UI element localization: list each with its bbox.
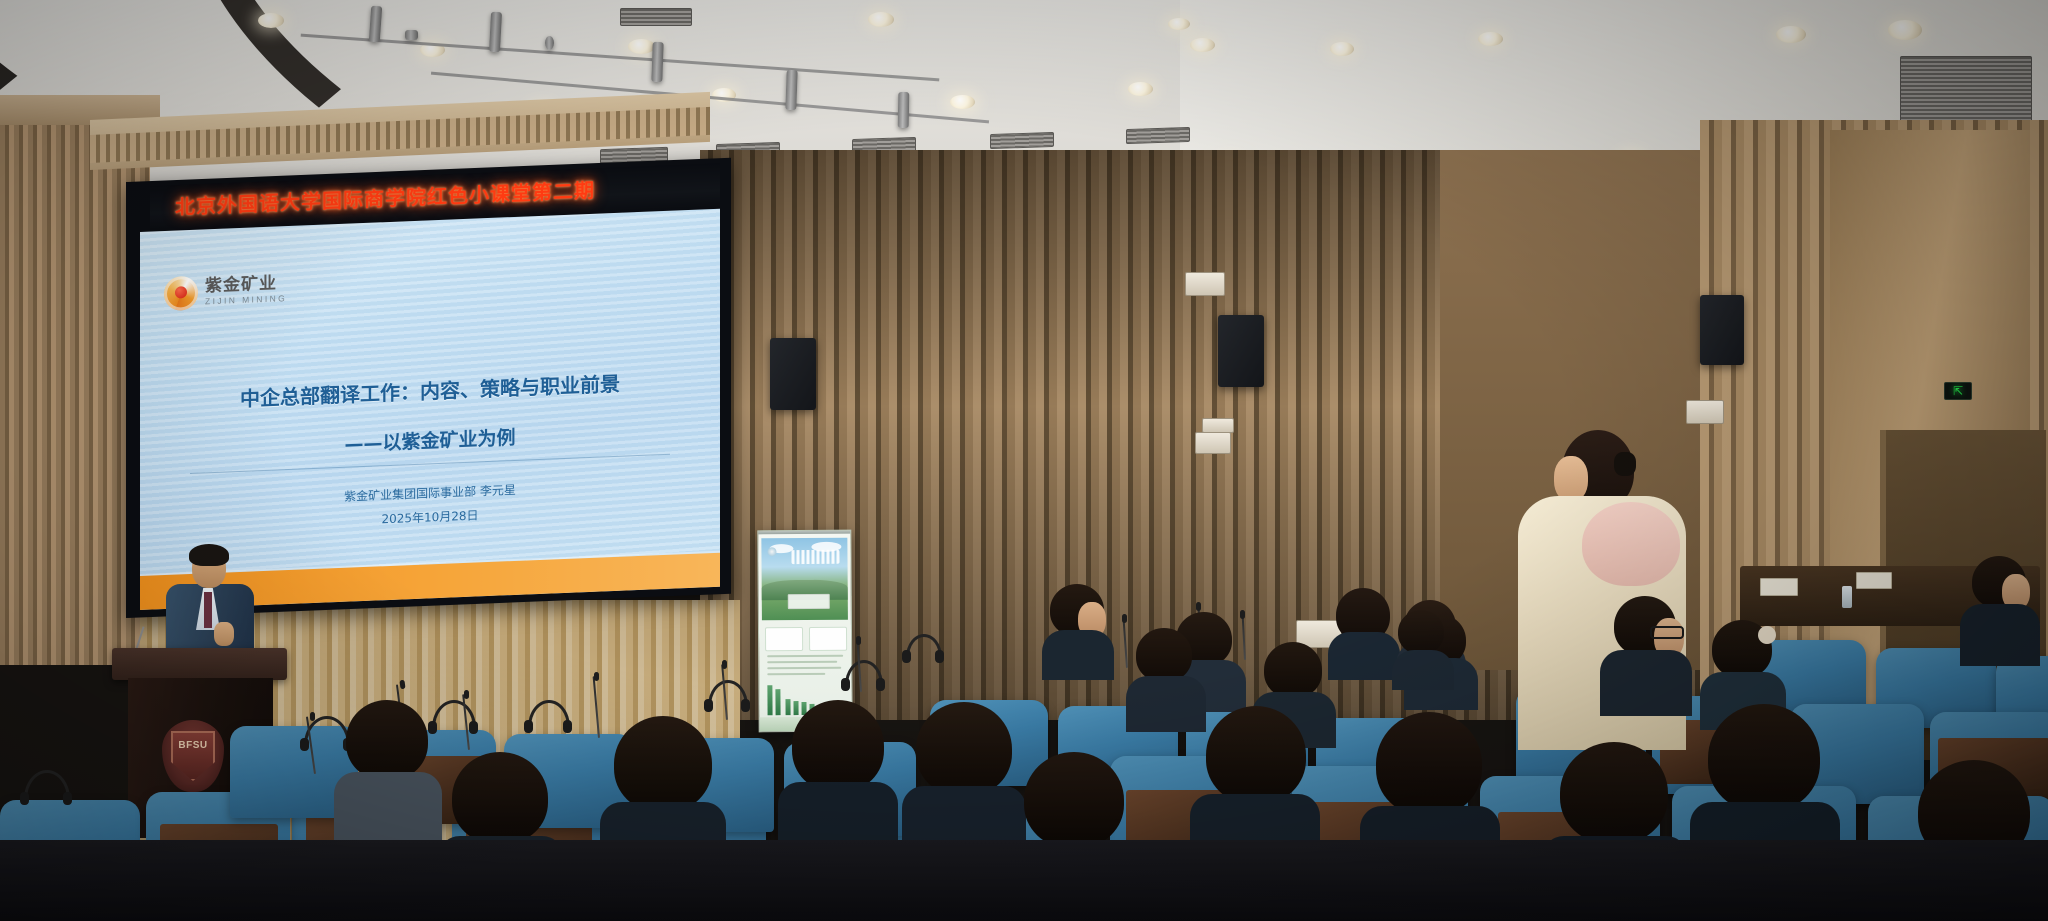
lectern-top bbox=[112, 648, 287, 680]
attendee-torso bbox=[1392, 650, 1454, 690]
ceiling-vent bbox=[620, 8, 692, 26]
emergency-exit-sign: ⇱ bbox=[1944, 382, 1972, 400]
attendee-hair bbox=[1376, 712, 1482, 816]
attendee-glasses bbox=[1650, 626, 1684, 639]
presenter-hair bbox=[189, 544, 229, 566]
ceiling-downlight bbox=[1190, 38, 1215, 52]
attendee-hair bbox=[1560, 742, 1668, 844]
rollup-textline bbox=[767, 673, 825, 675]
attendee-hair bbox=[346, 700, 428, 780]
headset-earcup bbox=[63, 792, 72, 805]
wall-plaque bbox=[1202, 418, 1234, 433]
rollup-logo-icon bbox=[767, 547, 776, 556]
rollup-textbox bbox=[809, 627, 847, 651]
attendee-hair bbox=[1708, 704, 1820, 812]
ceiling-downlight bbox=[868, 12, 894, 27]
headset-earcup bbox=[902, 650, 911, 663]
ceiling-downlight bbox=[1168, 18, 1190, 30]
rollup-caption-card bbox=[788, 594, 830, 609]
wall-control-panel[interactable] bbox=[1686, 400, 1724, 424]
attendee-hair-tie bbox=[1758, 626, 1776, 644]
ceiling-downlight bbox=[258, 13, 284, 28]
attendee-torso bbox=[1960, 604, 2040, 666]
water-bottle bbox=[1842, 586, 1852, 608]
track-spotlight bbox=[785, 70, 797, 110]
zijin-dot-icon bbox=[175, 286, 187, 298]
zijin-mining-logo: 紫金矿业 ZIJIN MINING bbox=[164, 272, 287, 311]
emblem-letters: BFSU bbox=[178, 740, 207, 751]
attendee-hair bbox=[614, 716, 712, 812]
attendee-hair-clip bbox=[1614, 452, 1636, 476]
attendee-torso bbox=[1600, 650, 1692, 716]
zijin-swirl-icon bbox=[164, 276, 198, 311]
emblem-shield-icon: BFSU bbox=[171, 731, 215, 781]
microphone-tip bbox=[594, 672, 599, 681]
wall-control-panel[interactable] bbox=[1185, 272, 1225, 296]
attendee-torso bbox=[334, 772, 442, 850]
ceiling-downlight bbox=[628, 39, 655, 54]
ceiling-downlight bbox=[1330, 42, 1354, 56]
rollup-top-bar bbox=[757, 530, 852, 535]
attendee-hair bbox=[1398, 610, 1444, 654]
exit-running-man-icon: ⇱ bbox=[1953, 385, 1963, 397]
headset-earcup bbox=[524, 720, 533, 733]
ceiling-downlight bbox=[1888, 20, 1922, 40]
seated-attendee bbox=[1392, 610, 1454, 690]
headset-earcup bbox=[20, 792, 29, 805]
attendee-hair bbox=[1206, 706, 1306, 804]
seated-attendee bbox=[334, 700, 442, 850]
headset-earcup bbox=[935, 650, 944, 663]
attendee-hood bbox=[1582, 502, 1680, 586]
headset-earcup bbox=[469, 721, 478, 734]
track-spotlight bbox=[651, 42, 663, 82]
microphone-tip bbox=[1122, 614, 1127, 623]
headset-unit[interactable] bbox=[900, 634, 946, 678]
seated-attendee bbox=[1960, 556, 2040, 666]
rollup-landscape-image bbox=[761, 538, 848, 621]
rollup-chart-bar bbox=[767, 685, 772, 715]
attendee-hair bbox=[1264, 642, 1322, 698]
headset-earcup bbox=[300, 738, 309, 751]
headset-unit[interactable] bbox=[16, 770, 76, 824]
headset-earcup bbox=[741, 699, 750, 712]
microphone-tip bbox=[722, 660, 727, 669]
presenter-hand bbox=[214, 622, 234, 646]
ceiling-vent bbox=[1126, 127, 1190, 144]
auditorium-scene: ⇱ 北京外国语大学国际商学院红色小课堂第二期 紫金矿业 ZIJIN MINING… bbox=[0, 0, 2048, 921]
attendee-hair bbox=[792, 700, 884, 792]
microphone-tip bbox=[310, 712, 315, 721]
headset-earcup bbox=[563, 720, 572, 733]
desk-nameplate bbox=[1856, 572, 1892, 589]
track-spotlight bbox=[489, 12, 502, 53]
headset-earcup bbox=[841, 678, 850, 691]
headset-earcup bbox=[876, 678, 885, 691]
rollup-textbox bbox=[765, 627, 803, 651]
attendee-torso bbox=[1328, 632, 1400, 680]
attendee-torso bbox=[1042, 630, 1114, 680]
attendee-hair bbox=[452, 752, 548, 844]
seated-attendee bbox=[1600, 596, 1692, 716]
wall-speaker bbox=[1700, 295, 1744, 365]
microphone-tip bbox=[464, 690, 469, 699]
attendee-hair bbox=[1024, 752, 1124, 848]
microphone-tip bbox=[399, 680, 405, 690]
floor bbox=[0, 840, 2048, 921]
track-spotlight bbox=[898, 92, 910, 128]
microphone-tip bbox=[856, 636, 861, 645]
headset-unit[interactable] bbox=[520, 700, 576, 752]
wall-speaker bbox=[770, 338, 816, 410]
attendee-hair bbox=[1136, 628, 1192, 682]
ceiling-vent bbox=[990, 132, 1054, 149]
logo-name-cn: 紫金矿业 bbox=[205, 275, 287, 295]
logo-name-en: ZIJIN MINING bbox=[205, 294, 287, 306]
ceiling-downlight bbox=[1128, 82, 1153, 96]
desk-nameplate bbox=[1760, 578, 1798, 596]
ceiling-downlight bbox=[1478, 32, 1503, 46]
attendee-hair bbox=[916, 702, 1012, 796]
headset-earcup bbox=[704, 699, 713, 712]
wall-speaker bbox=[1218, 315, 1264, 387]
rollup-title-text bbox=[791, 550, 839, 564]
ceiling-sensor bbox=[545, 36, 554, 50]
presenter-tie bbox=[204, 592, 212, 628]
ceiling-downlight bbox=[950, 95, 975, 109]
ceiling-sensor bbox=[405, 30, 418, 40]
seated-attendee bbox=[1042, 584, 1114, 680]
rollup-textline bbox=[767, 661, 837, 663]
ceiling-downlight bbox=[1776, 26, 1806, 43]
rollup-textline bbox=[767, 655, 843, 657]
wall-control-panel[interactable] bbox=[1195, 432, 1231, 454]
seated-attendee bbox=[1328, 588, 1400, 678]
rollup-textline bbox=[767, 667, 841, 669]
microphone-tip bbox=[1196, 602, 1201, 611]
